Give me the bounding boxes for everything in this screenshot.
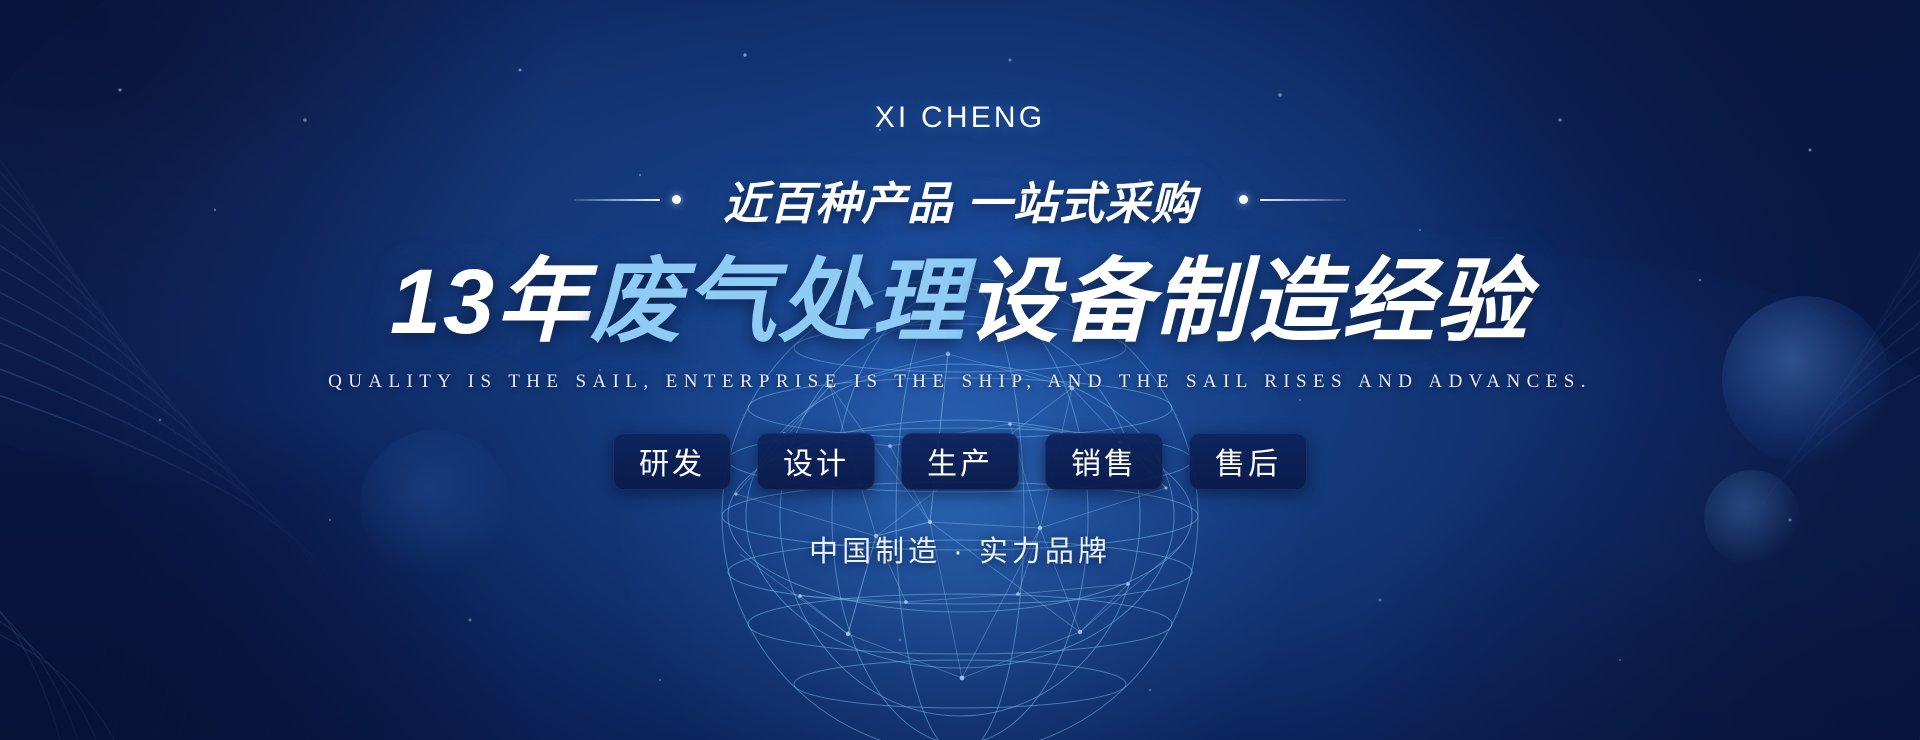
- headline-part-highlight: 废气处理: [590, 251, 966, 353]
- pill-production[interactable]: 生产: [901, 433, 1019, 490]
- rule-right-decoration: [1239, 195, 1346, 204]
- pill-aftersales[interactable]: 售后: [1189, 433, 1307, 490]
- footer-tagline: 中国制造 · 实力品牌: [809, 528, 1111, 570]
- service-pill-list: 研发 设计 生产 销售 售后: [613, 433, 1307, 490]
- tagline-english: QUALITY IS THE SAIL, ENTERPRISE IS THE S…: [328, 371, 1592, 393]
- rule-left-bar: [574, 199, 660, 201]
- pill-sales[interactable]: 销售: [1045, 433, 1163, 490]
- brand-name-english: XI CHENG: [875, 103, 1046, 133]
- banner-subtitle: 近百种产品 一站式采购: [723, 167, 1197, 232]
- subtitle-row: 近百种产品 一站式采购: [574, 167, 1346, 232]
- rule-left-decoration: [574, 195, 681, 204]
- rule-left-dot: [672, 195, 681, 204]
- rule-right-dot: [1239, 195, 1248, 204]
- hero-banner: XI CHENG 近百种产品 一站式采购 13年废气处理设备制造经验 QUALI…: [0, 0, 1920, 740]
- banner-content: XI CHENG 近百种产品 一站式采购 13年废气处理设备制造经验 QUALI…: [0, 0, 1920, 740]
- headline-part-tail: 设备制造经验: [966, 251, 1530, 353]
- headline-part-years: 13年: [390, 251, 590, 353]
- rule-right-bar: [1260, 199, 1346, 201]
- banner-headline: 13年废气处理设备制造经验: [390, 248, 1530, 357]
- pill-design[interactable]: 设计: [757, 433, 875, 490]
- pill-rnd[interactable]: 研发: [613, 433, 731, 490]
